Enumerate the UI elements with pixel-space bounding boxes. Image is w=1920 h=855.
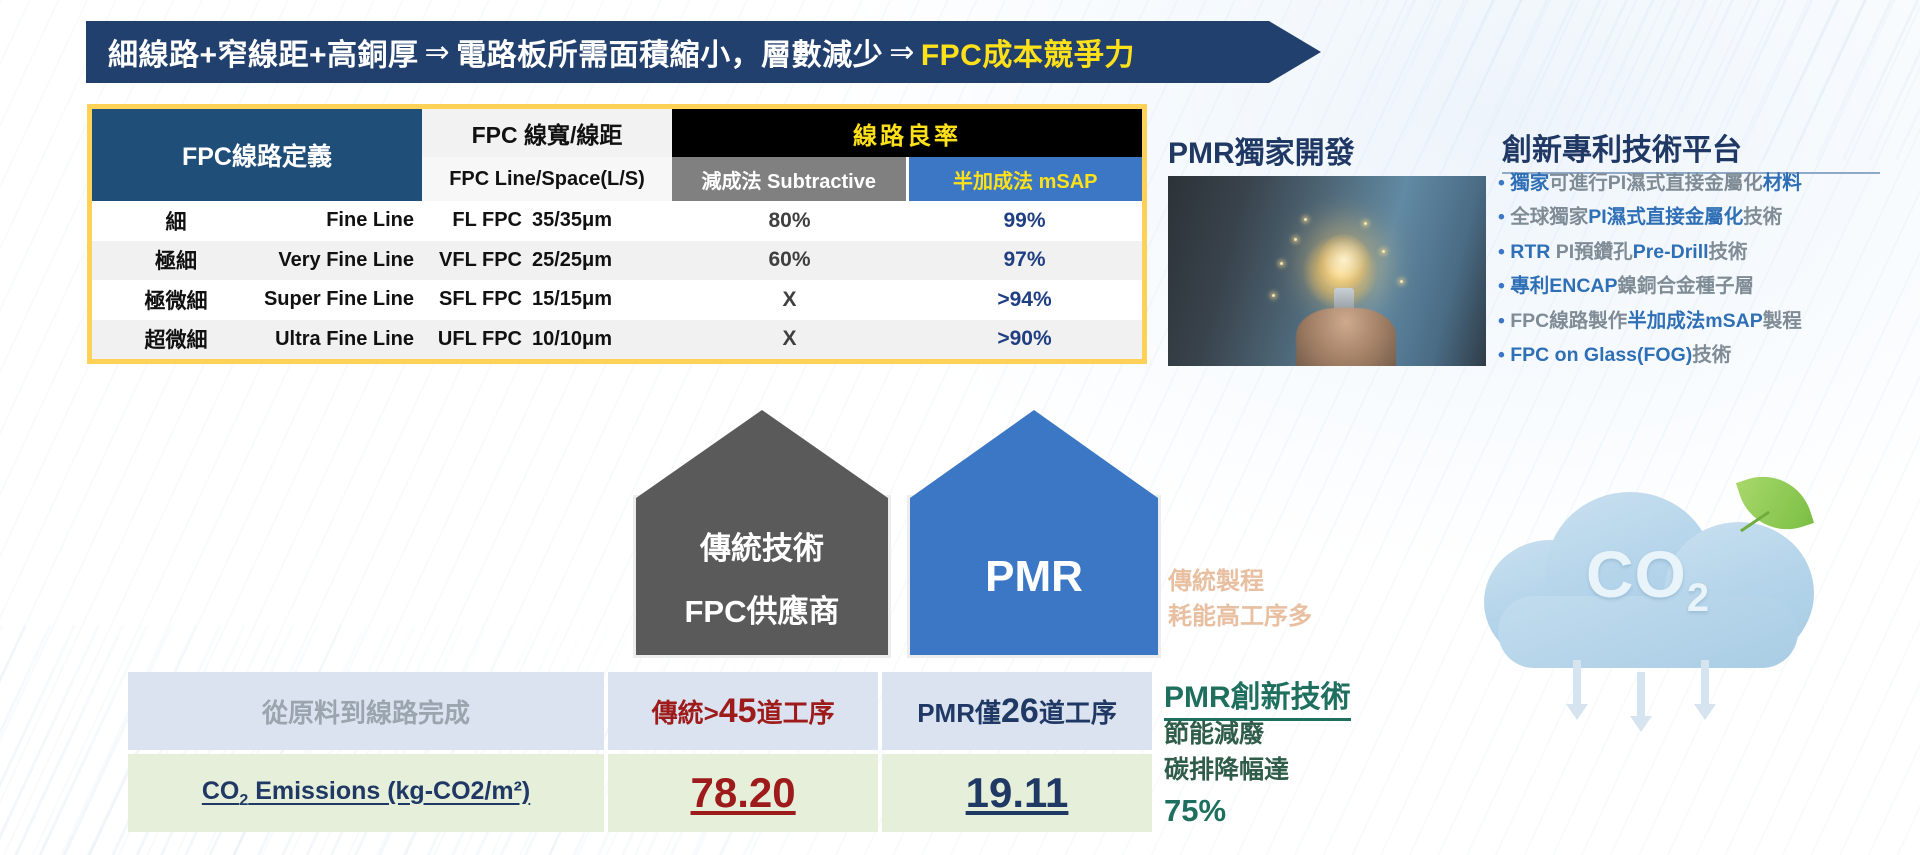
process-count-label: 從原料到線路完成 (262, 693, 470, 730)
traditional-process-note: 傳統製程 耗能高工序多 (1168, 565, 1312, 635)
bullet-seg: 製程 (1763, 310, 1802, 332)
cell-zh: 極細 (92, 241, 260, 281)
traditional-label-1: 傳統技術 (700, 523, 824, 568)
down-arrow-icon (1630, 672, 1652, 732)
cell-msap: >90% (907, 320, 1142, 360)
pmr-co2-value: 19.11 (966, 769, 1069, 817)
cloud-label-subscript: 2 (1687, 576, 1710, 620)
comparison-table: 從原料到線路完成 傳統>45道工序 PMR僅26道工序 CO2 Emission… (128, 672, 1152, 832)
bullet-seg: 專利 (1510, 275, 1549, 297)
cell-zh: 極微細 (92, 280, 260, 320)
arrow-tip (1566, 704, 1588, 720)
list-item: 獨家可進行PI濕式直接金屬化材料 (1498, 172, 1918, 194)
cell-subtractive: 80% (672, 201, 907, 241)
cell-zh: 細 (92, 201, 260, 241)
header-yield-group: 線路良率 減成法 Subtractive 半加成法 mSAP (672, 109, 1142, 201)
label-subscript: 2 (239, 792, 248, 809)
cell-abbr: UFL FPC (422, 320, 522, 360)
cell-abbr: VFL FPC (422, 241, 522, 281)
platform-title: 創新專利技術平台 (1502, 125, 1880, 174)
down-arrow-icon (1694, 660, 1716, 720)
spark-icon (1382, 250, 1385, 253)
header-yield-title: 線路良率 (672, 109, 1142, 157)
header-linewidth-en: FPC Line/Space(L/S) (422, 157, 672, 201)
cell-msap: 97% (907, 241, 1142, 281)
cell-en: Super Fine Line (260, 280, 422, 320)
traditional-arrow: 傳統技術 FPC供應商 (636, 410, 888, 655)
bullet-seg: PI預鑽孔 (1556, 241, 1633, 263)
cell-linespace: 10/10μm (522, 320, 672, 360)
traditional-co2-value: 78.20 (691, 769, 796, 817)
pmr-innovation-body: 節能減廢 碳排降幅達 75% (1164, 716, 1289, 833)
fpc-spec-table: FPC線路定義 FPC 線寬/線距 FPC Line/Space(L/S) 線路… (87, 104, 1147, 364)
spark-icon (1304, 218, 1307, 221)
cell-msap: >94% (907, 280, 1142, 320)
traditional-cell: 78.20 (608, 754, 878, 832)
bullet-seg: 技術 (1743, 206, 1782, 228)
arrow-shaft (1637, 672, 1645, 716)
headline-banner: 細線路+窄線距+高銅厚 ⇒ 電路板所需面積縮小，層數減少 ⇒ FPC成本競爭力 (86, 21, 1321, 83)
table-row: CO2 Emissions (kg-CO2/m²) 78.20 19.11 (128, 754, 1152, 832)
table-row: 細 Fine Line FL FPC 35/35μm 80% 99% (92, 201, 1142, 241)
pmr-note-line-1: 節能減廢 (1164, 716, 1289, 752)
cell-en: Fine Line (260, 201, 422, 241)
cell-msap: 99% (907, 201, 1142, 241)
val-number: 45 (719, 692, 757, 730)
arrow-tip (1694, 704, 1716, 720)
arrow-up-head-icon (636, 410, 888, 498)
pmr-reduction-percent: 75% (1164, 789, 1289, 834)
cloud-label-prefix: CO (1586, 537, 1687, 611)
arrow-up-head-icon (910, 410, 1158, 498)
bullet-seg: 半加成法mSAP (1627, 310, 1762, 332)
val-suffix: 道工序 (1039, 698, 1117, 728)
spec-table-header: FPC線路定義 FPC 線寬/線距 FPC Line/Space(L/S) 線路… (92, 109, 1142, 201)
bullet-seg: FPC線路製作 (1510, 310, 1627, 332)
header-msap: 半加成法 mSAP (909, 157, 1143, 201)
pmr-arrow: PMR (910, 410, 1158, 655)
down-arrow-icon (1566, 660, 1588, 720)
cell-zh: 超微細 (92, 320, 260, 360)
table-row: 極微細 Super Fine Line SFL FPC 15/15μm X >9… (92, 280, 1142, 320)
val-suffix: 道工序 (757, 698, 835, 728)
pmr-process-count: PMR僅26道工序 (917, 692, 1117, 731)
cell-subtractive: 60% (672, 241, 907, 281)
co2-emissions-label: CO2 Emissions (kg-CO2/m²) (202, 777, 530, 810)
list-item: 專利ENCAP鎳銅合金種子層 (1498, 275, 1918, 297)
arrow-shaft (1701, 660, 1709, 704)
cell-linespace: 25/25μm (522, 241, 672, 281)
list-item: FPC線路製作半加成法mSAP製程 (1498, 310, 1918, 332)
list-item: RTR PI預鑽孔Pre-Drill技術 (1498, 241, 1918, 263)
bullet-seg: 鎳銅合金種子層 (1618, 275, 1755, 297)
table-row: 極細 Very Fine Line VFL FPC 25/25μm 60% 97… (92, 241, 1142, 281)
pmr-development-title: PMR獨家開發 (1168, 128, 1436, 179)
traditional-cell: 傳統>45道工序 (608, 672, 878, 750)
pmr-cell: 19.11 (882, 754, 1152, 832)
bullet-seg: 獨家 (1510, 172, 1549, 194)
pmr-cell: PMR僅26道工序 (882, 672, 1152, 750)
arrow-shaft (1573, 660, 1581, 704)
pmr-label: PMR (985, 552, 1083, 602)
bullet-seg: PI濕式直接金屬化 (1588, 206, 1743, 228)
header-subtractive: 減成法 Subtractive (672, 157, 909, 201)
bulb-glass-icon (1318, 234, 1370, 292)
pmr-innovation-title: PMR創新技術 (1164, 672, 1351, 721)
cell-linespace: 15/15μm (522, 280, 672, 320)
pmr-note-line-2: 碳排降幅達 (1164, 752, 1289, 788)
header-linewidth-group: FPC 線寬/線距 FPC Line/Space(L/S) (422, 109, 672, 201)
list-item: FPC on Glass(FOG)技術 (1498, 344, 1918, 366)
slide-canvas: 細線路+窄線距+高銅厚 ⇒ 電路板所需面積縮小，層數減少 ⇒ FPC成本競爭力 … (0, 0, 1920, 855)
header-yield-methods: 減成法 Subtractive 半加成法 mSAP (672, 157, 1142, 201)
bullet-seg: 技術 (1692, 344, 1731, 366)
lightbulb-photo (1168, 176, 1486, 366)
cloud-co2-text: CO2 (1468, 536, 1828, 621)
row-label-cell: CO2 Emissions (kg-CO2/m²) (128, 754, 604, 832)
cell-linespace: 35/35μm (522, 201, 672, 241)
cell-abbr: FL FPC (422, 201, 522, 241)
note-line-2: 耗能高工序多 (1168, 600, 1312, 635)
spark-icon (1400, 280, 1403, 283)
val-prefix: PMR僅 (917, 698, 1001, 728)
bullet-seg: Pre-Drill (1633, 241, 1709, 263)
banner-arrow-1: ⇒ (419, 35, 457, 70)
bullet-seg: 可進行PI濕式直接金屬化 (1549, 172, 1762, 194)
banner-arrow-2: ⇒ (883, 35, 921, 70)
cell-en: Very Fine Line (260, 241, 422, 281)
bullet-seg: FPC on Glass(FOG) (1510, 344, 1692, 366)
cell-en: Ultra Fine Line (260, 320, 422, 360)
label-suffix: Emissions (kg-CO2/m²) (248, 777, 530, 805)
val-prefix: 傳統> (652, 698, 719, 728)
bullet-seg: 材料 (1763, 172, 1802, 194)
bullet-seg: RTR (1510, 241, 1556, 263)
bullet-seg: ENCAP (1549, 275, 1617, 297)
header-linewidth-zh: FPC 線寬/線距 (422, 109, 672, 157)
row-label-cell: 從原料到線路完成 (128, 672, 604, 750)
bullet-seg: 技術 (1709, 241, 1748, 263)
table-row: 從原料到線路完成 傳統>45道工序 PMR僅26道工序 (128, 672, 1152, 750)
header-fpc-definition: FPC線路定義 (92, 109, 422, 201)
traditional-label-2: FPC供應商 (685, 586, 840, 631)
banner-highlight: FPC成本競爭力 (921, 30, 1135, 74)
label-prefix: CO (202, 777, 240, 805)
note-line-1: 傳統製程 (1168, 565, 1312, 600)
cell-subtractive: X (672, 320, 907, 360)
arrow-body: 傳統技術 FPC供應商 (636, 498, 888, 655)
list-item: 全球獨家PI濕式直接金屬化技術 (1498, 206, 1918, 228)
banner-part2: 電路板所需面積縮小，層數減少 (456, 30, 883, 74)
arrow-tip (1630, 716, 1652, 732)
platform-bullet-list: 獨家可進行PI濕式直接金屬化材料 全球獨家PI濕式直接金屬化技術 RTR PI預… (1498, 172, 1918, 379)
cell-abbr: SFL FPC (422, 280, 522, 320)
cell-subtractive: X (672, 280, 907, 320)
bullet-seg: 全球獨家 (1510, 206, 1588, 228)
spark-icon (1272, 294, 1275, 297)
spark-icon (1294, 238, 1297, 241)
traditional-process-count: 傳統>45道工序 (652, 692, 835, 731)
spark-icon (1280, 262, 1283, 265)
arrow-body: PMR (910, 498, 1158, 655)
banner-part1: 細線路+窄線距+高銅厚 (108, 30, 419, 74)
val-number: 26 (1001, 692, 1039, 730)
table-row: 超微細 Ultra Fine Line UFL FPC 10/10μm X >9… (92, 320, 1142, 360)
hand-shape (1296, 308, 1396, 366)
spark-icon (1364, 222, 1367, 225)
